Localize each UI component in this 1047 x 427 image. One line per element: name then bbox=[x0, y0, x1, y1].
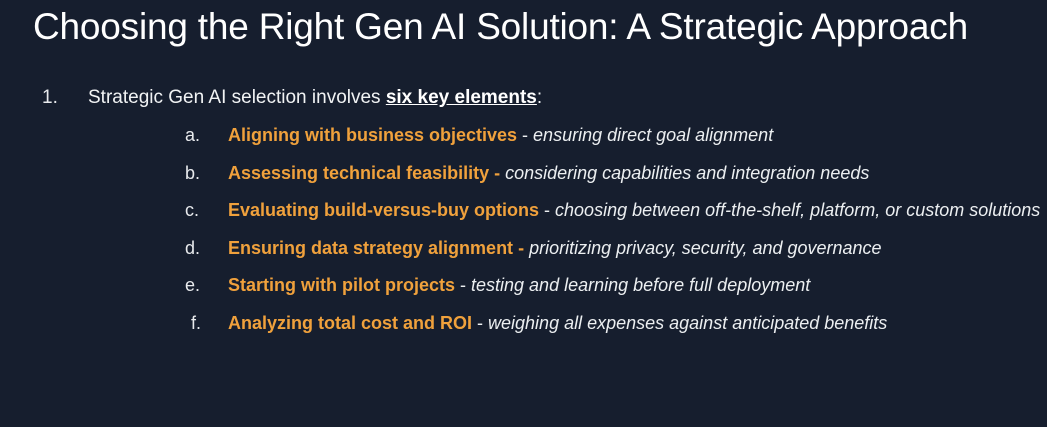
list-item-b-text: Assessing technical feasibility - consid… bbox=[228, 163, 869, 183]
list-item-e-lead: Starting with pilot projects bbox=[228, 275, 455, 295]
list-item-b-description: considering capabilities and integration… bbox=[505, 163, 869, 183]
list-marker-a: a. bbox=[185, 121, 213, 149]
list-marker-1: 1. bbox=[42, 84, 58, 112]
list-item-e-description: testing and learning before full deploym… bbox=[471, 275, 810, 295]
list-item-b-separator: - bbox=[489, 163, 505, 183]
list-item-d: d. Ensuring data strategy alignment - pr… bbox=[88, 234, 1047, 262]
list-item-a-lead: Aligning with business objectives bbox=[228, 125, 517, 145]
level1-emphasis: six key elements bbox=[386, 87, 537, 108]
level1-text-before: Strategic Gen AI selection involves bbox=[88, 87, 386, 108]
list-marker-b: b. bbox=[185, 159, 213, 187]
list-item-f-text: Analyzing total cost and ROI - weighing … bbox=[228, 313, 887, 333]
list-item-c-description: choosing between off-the-shelf, platform… bbox=[555, 200, 1040, 220]
level1-text-after: : bbox=[537, 87, 542, 108]
list-item-a-text: Aligning with business objectives - ensu… bbox=[228, 125, 773, 145]
list-item-level1: 1. Strategic Gen AI selection involves s… bbox=[0, 84, 1047, 337]
list-item-d-text: Ensuring data strategy alignment - prior… bbox=[228, 238, 882, 258]
list-item-e-text: Starting with pilot projects - testing a… bbox=[228, 275, 810, 295]
list-item-e: e. Starting with pilot projects - testin… bbox=[88, 271, 1047, 299]
list-marker-f: f. bbox=[191, 309, 219, 337]
list-item-c-separator: - bbox=[539, 200, 555, 220]
outline-list: 1. Strategic Gen AI selection involves s… bbox=[0, 84, 1047, 346]
list-item-c-text: Evaluating build-versus-buy options - ch… bbox=[228, 200, 1040, 220]
list-item-c: c. Evaluating build-versus-buy options -… bbox=[88, 196, 1047, 224]
list-item-d-separator: - bbox=[513, 238, 529, 258]
list-item-c-lead: Evaluating build-versus-buy options bbox=[228, 200, 539, 220]
list-item-d-description: prioritizing privacy, security, and gove… bbox=[529, 238, 882, 258]
list-item-f-lead: Analyzing total cost and ROI bbox=[228, 313, 472, 333]
sub-item-list: a. Aligning with business objectives - e… bbox=[88, 121, 1047, 337]
list-item-f-separator: - bbox=[472, 313, 488, 333]
list-item-b: b. Assessing technical feasibility - con… bbox=[88, 159, 1047, 187]
list-marker-e: e. bbox=[185, 271, 213, 299]
list-item-a-separator: - bbox=[517, 125, 533, 145]
slide-canvas: Choosing the Right Gen AI Solution: A St… bbox=[0, 0, 1047, 427]
list-item-level1-text: Strategic Gen AI selection involves six … bbox=[88, 87, 542, 108]
list-marker-d: d. bbox=[185, 234, 213, 262]
list-item-b-lead: Assessing technical feasibility bbox=[228, 163, 489, 183]
list-item-f: f. Analyzing total cost and ROI - weighi… bbox=[88, 309, 1047, 337]
list-item-d-lead: Ensuring data strategy alignment bbox=[228, 238, 513, 258]
list-marker-c: c. bbox=[185, 196, 213, 224]
page-title: Choosing the Right Gen AI Solution: A St… bbox=[33, 6, 968, 48]
list-item-a-description: ensuring direct goal alignment bbox=[533, 125, 773, 145]
list-item-a: a. Aligning with business objectives - e… bbox=[88, 121, 1047, 149]
list-item-e-separator: - bbox=[455, 275, 471, 295]
list-item-f-description: weighing all expenses against anticipate… bbox=[488, 313, 887, 333]
